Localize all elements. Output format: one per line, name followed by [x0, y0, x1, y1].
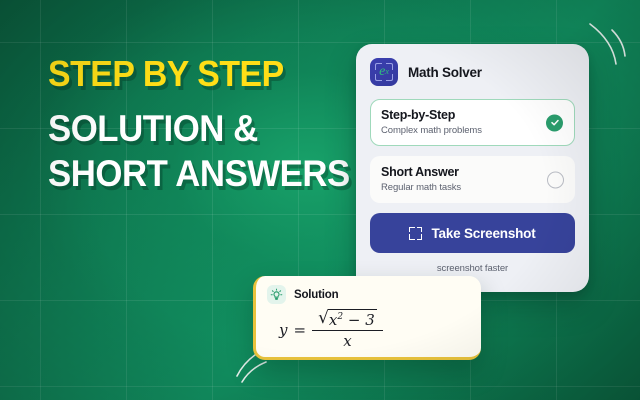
app-title: Math Solver	[408, 65, 482, 80]
lightbulb-icon	[267, 285, 286, 304]
headline-line-2: SOLUTION &	[48, 110, 358, 148]
exponential-glyph: ex	[370, 58, 398, 86]
solution-formula: y = √ x2 − 3 x	[267, 309, 469, 350]
radical-sign: √	[318, 310, 329, 330]
solution-title: Solution	[294, 289, 338, 301]
formula-lhs: y	[279, 321, 287, 339]
radio-empty-icon[interactable]	[547, 171, 564, 188]
square-root-icon: √ x2 − 3	[318, 309, 377, 329]
formula-equals: =	[293, 321, 306, 339]
take-screenshot-label: Take Screenshot	[431, 226, 535, 241]
headline: STEP BY STEP SOLUTION & SHORT ANSWERS	[48, 56, 378, 193]
headline-line-1: STEP BY STEP	[48, 56, 358, 93]
crop-frame-icon	[409, 227, 422, 240]
formula-numerator: √ x2 − 3	[312, 309, 383, 330]
option-subtitle: Regular math tasks	[381, 182, 564, 193]
promo-banner: STEP BY STEP SOLUTION & SHORT ANSWERS ex…	[0, 0, 640, 400]
solution-card-header: Solution	[267, 285, 469, 304]
check-circle-icon[interactable]	[546, 114, 563, 131]
option-step-by-step[interactable]: Step-by-Step Complex math problems	[370, 99, 575, 146]
screenshot-hint-text: screenshot faster	[370, 263, 575, 274]
math-solver-app-icon: ex	[370, 58, 398, 86]
app-card-header: ex Math Solver	[370, 58, 575, 86]
headline-line-3: SHORT ANSWERS	[48, 155, 358, 193]
solution-card: Solution y = √ x2 − 3 x	[253, 276, 481, 360]
option-title: Step-by-Step	[381, 108, 564, 122]
radicand-rest: − 3	[348, 311, 375, 329]
radicand: x2 − 3	[328, 309, 377, 329]
formula-denominator: x	[312, 331, 383, 350]
option-title: Short Answer	[381, 165, 564, 179]
option-short-answer[interactable]: Short Answer Regular math tasks	[370, 156, 575, 203]
take-screenshot-button[interactable]: Take Screenshot	[370, 213, 575, 253]
math-solver-card: ex Math Solver Step-by-Step Complex math…	[356, 44, 589, 292]
radicand-exponent: 2	[337, 312, 343, 322]
icon-exponent: x	[385, 68, 389, 76]
option-subtitle: Complex math problems	[381, 125, 564, 136]
decorative-arcs-top-right	[584, 18, 632, 70]
formula-fraction: √ x2 − 3 x	[312, 309, 383, 350]
